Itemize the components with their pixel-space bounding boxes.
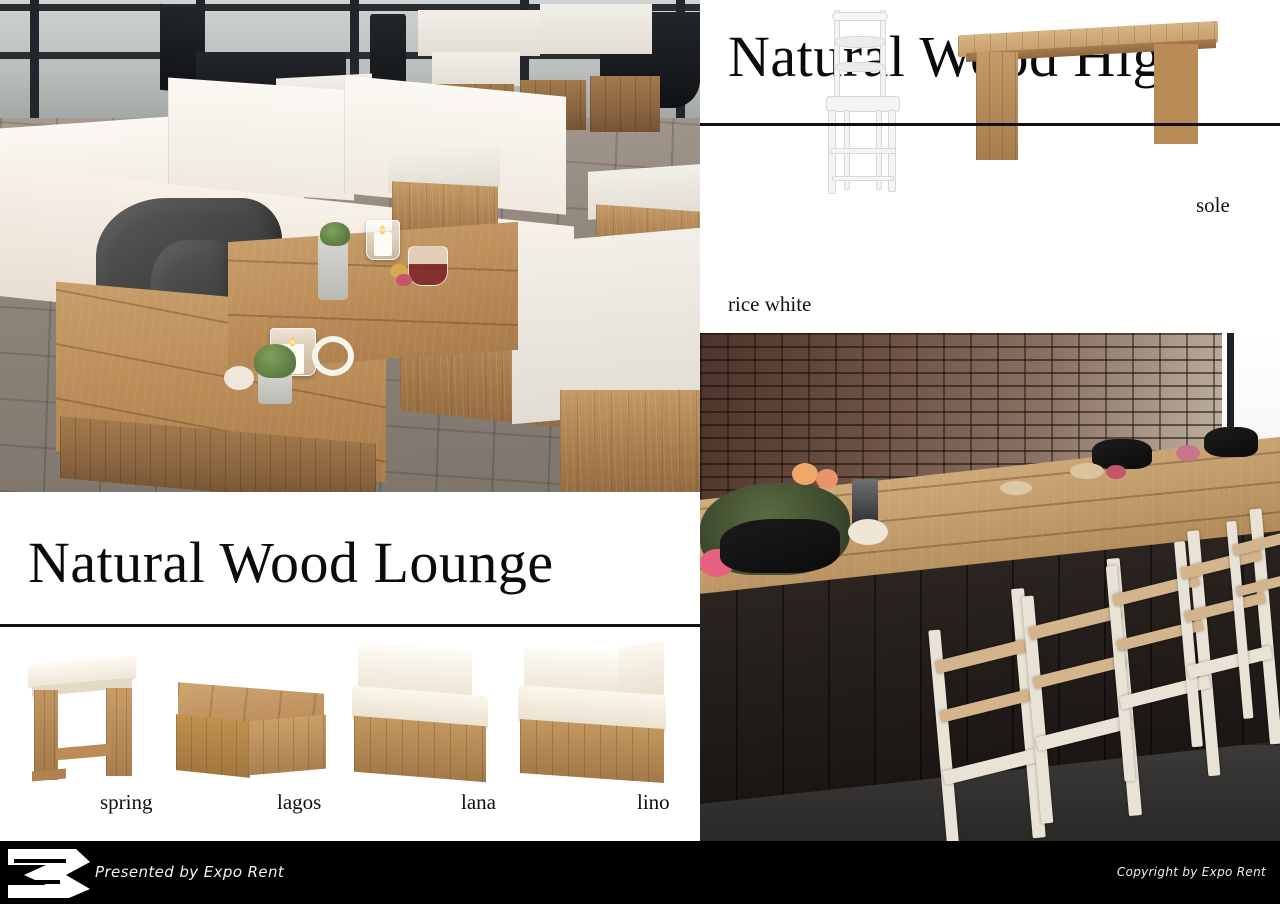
dried-bloom bbox=[1106, 465, 1126, 479]
expo-rent-logo-icon bbox=[6, 845, 92, 900]
leg bbox=[106, 688, 132, 776]
orange-rose bbox=[816, 469, 838, 489]
bench-backrest bbox=[168, 77, 354, 200]
far-bench-base bbox=[590, 76, 660, 132]
black-cloth bbox=[720, 519, 840, 573]
product-label-spring: spring bbox=[100, 790, 153, 815]
natural-wood-high-section: Natural Wood High rice white sole bbox=[700, 0, 1280, 333]
product-label-lagos: lagos bbox=[277, 790, 321, 815]
candle-flame bbox=[380, 226, 385, 234]
dried-bloom bbox=[396, 274, 412, 286]
natural-wood-lounge-section: Natural Wood Lounge bbox=[0, 492, 700, 841]
far-bench-cushion bbox=[418, 10, 540, 56]
footer-bar: Presented by Expo Rent Copyright by Expo… bbox=[0, 841, 1280, 904]
copyright-text: Copyright by Expo Rent bbox=[1117, 865, 1266, 879]
wood-base bbox=[354, 716, 486, 782]
black-cloth bbox=[1204, 427, 1258, 457]
corner-bench-base bbox=[560, 390, 700, 492]
table-leg-right bbox=[1154, 44, 1198, 144]
dried-bloom bbox=[224, 366, 254, 390]
succulent bbox=[254, 344, 296, 378]
lino-module-image bbox=[518, 644, 670, 784]
white-ring-decor bbox=[312, 336, 354, 376]
natural-wood-lounge-title: Natural Wood Lounge bbox=[28, 534, 554, 592]
presented-by-text: Presented by Expo Rent bbox=[95, 863, 284, 881]
leg bbox=[34, 690, 58, 780]
lagos-table-image bbox=[176, 688, 326, 784]
side-panel-right bbox=[248, 715, 326, 776]
lounge-section-divider bbox=[0, 624, 700, 627]
candle-flame bbox=[290, 338, 295, 346]
dried-bloom bbox=[1176, 445, 1200, 461]
table-leg-left bbox=[976, 52, 1018, 160]
black-cloth bbox=[1092, 439, 1152, 469]
stretcher bbox=[56, 744, 110, 761]
spring-stool-image bbox=[22, 660, 142, 782]
lounge-terrace-photo bbox=[0, 0, 700, 492]
brick-bar-photo bbox=[700, 333, 1280, 841]
candle bbox=[374, 232, 392, 256]
sole-high-table-image bbox=[958, 20, 1218, 165]
product-label-sole: sole bbox=[1196, 193, 1230, 218]
dried-bloom bbox=[1000, 481, 1032, 495]
product-label-lino: lino bbox=[637, 790, 670, 815]
foot bbox=[32, 769, 66, 782]
side-panel-left bbox=[176, 714, 250, 778]
orange-rose bbox=[792, 463, 818, 485]
berry-jar bbox=[408, 246, 448, 286]
dried-bloom bbox=[848, 519, 888, 545]
succulent bbox=[320, 222, 350, 246]
window-mullion bbox=[30, 0, 39, 130]
lana-module-image bbox=[352, 647, 492, 783]
wood-base bbox=[520, 719, 664, 783]
far-bench-cushion bbox=[432, 52, 520, 86]
rice-white-barstool-image bbox=[818, 10, 914, 195]
dried-bloom bbox=[1070, 463, 1104, 479]
catalog-page: Natural Wood High rice white sole bbox=[0, 0, 1280, 904]
product-label-lana: lana bbox=[461, 790, 496, 815]
product-label-rice-white: rice white bbox=[728, 292, 811, 317]
high-section-divider bbox=[700, 123, 1280, 126]
far-bench-cushion bbox=[540, 4, 652, 54]
